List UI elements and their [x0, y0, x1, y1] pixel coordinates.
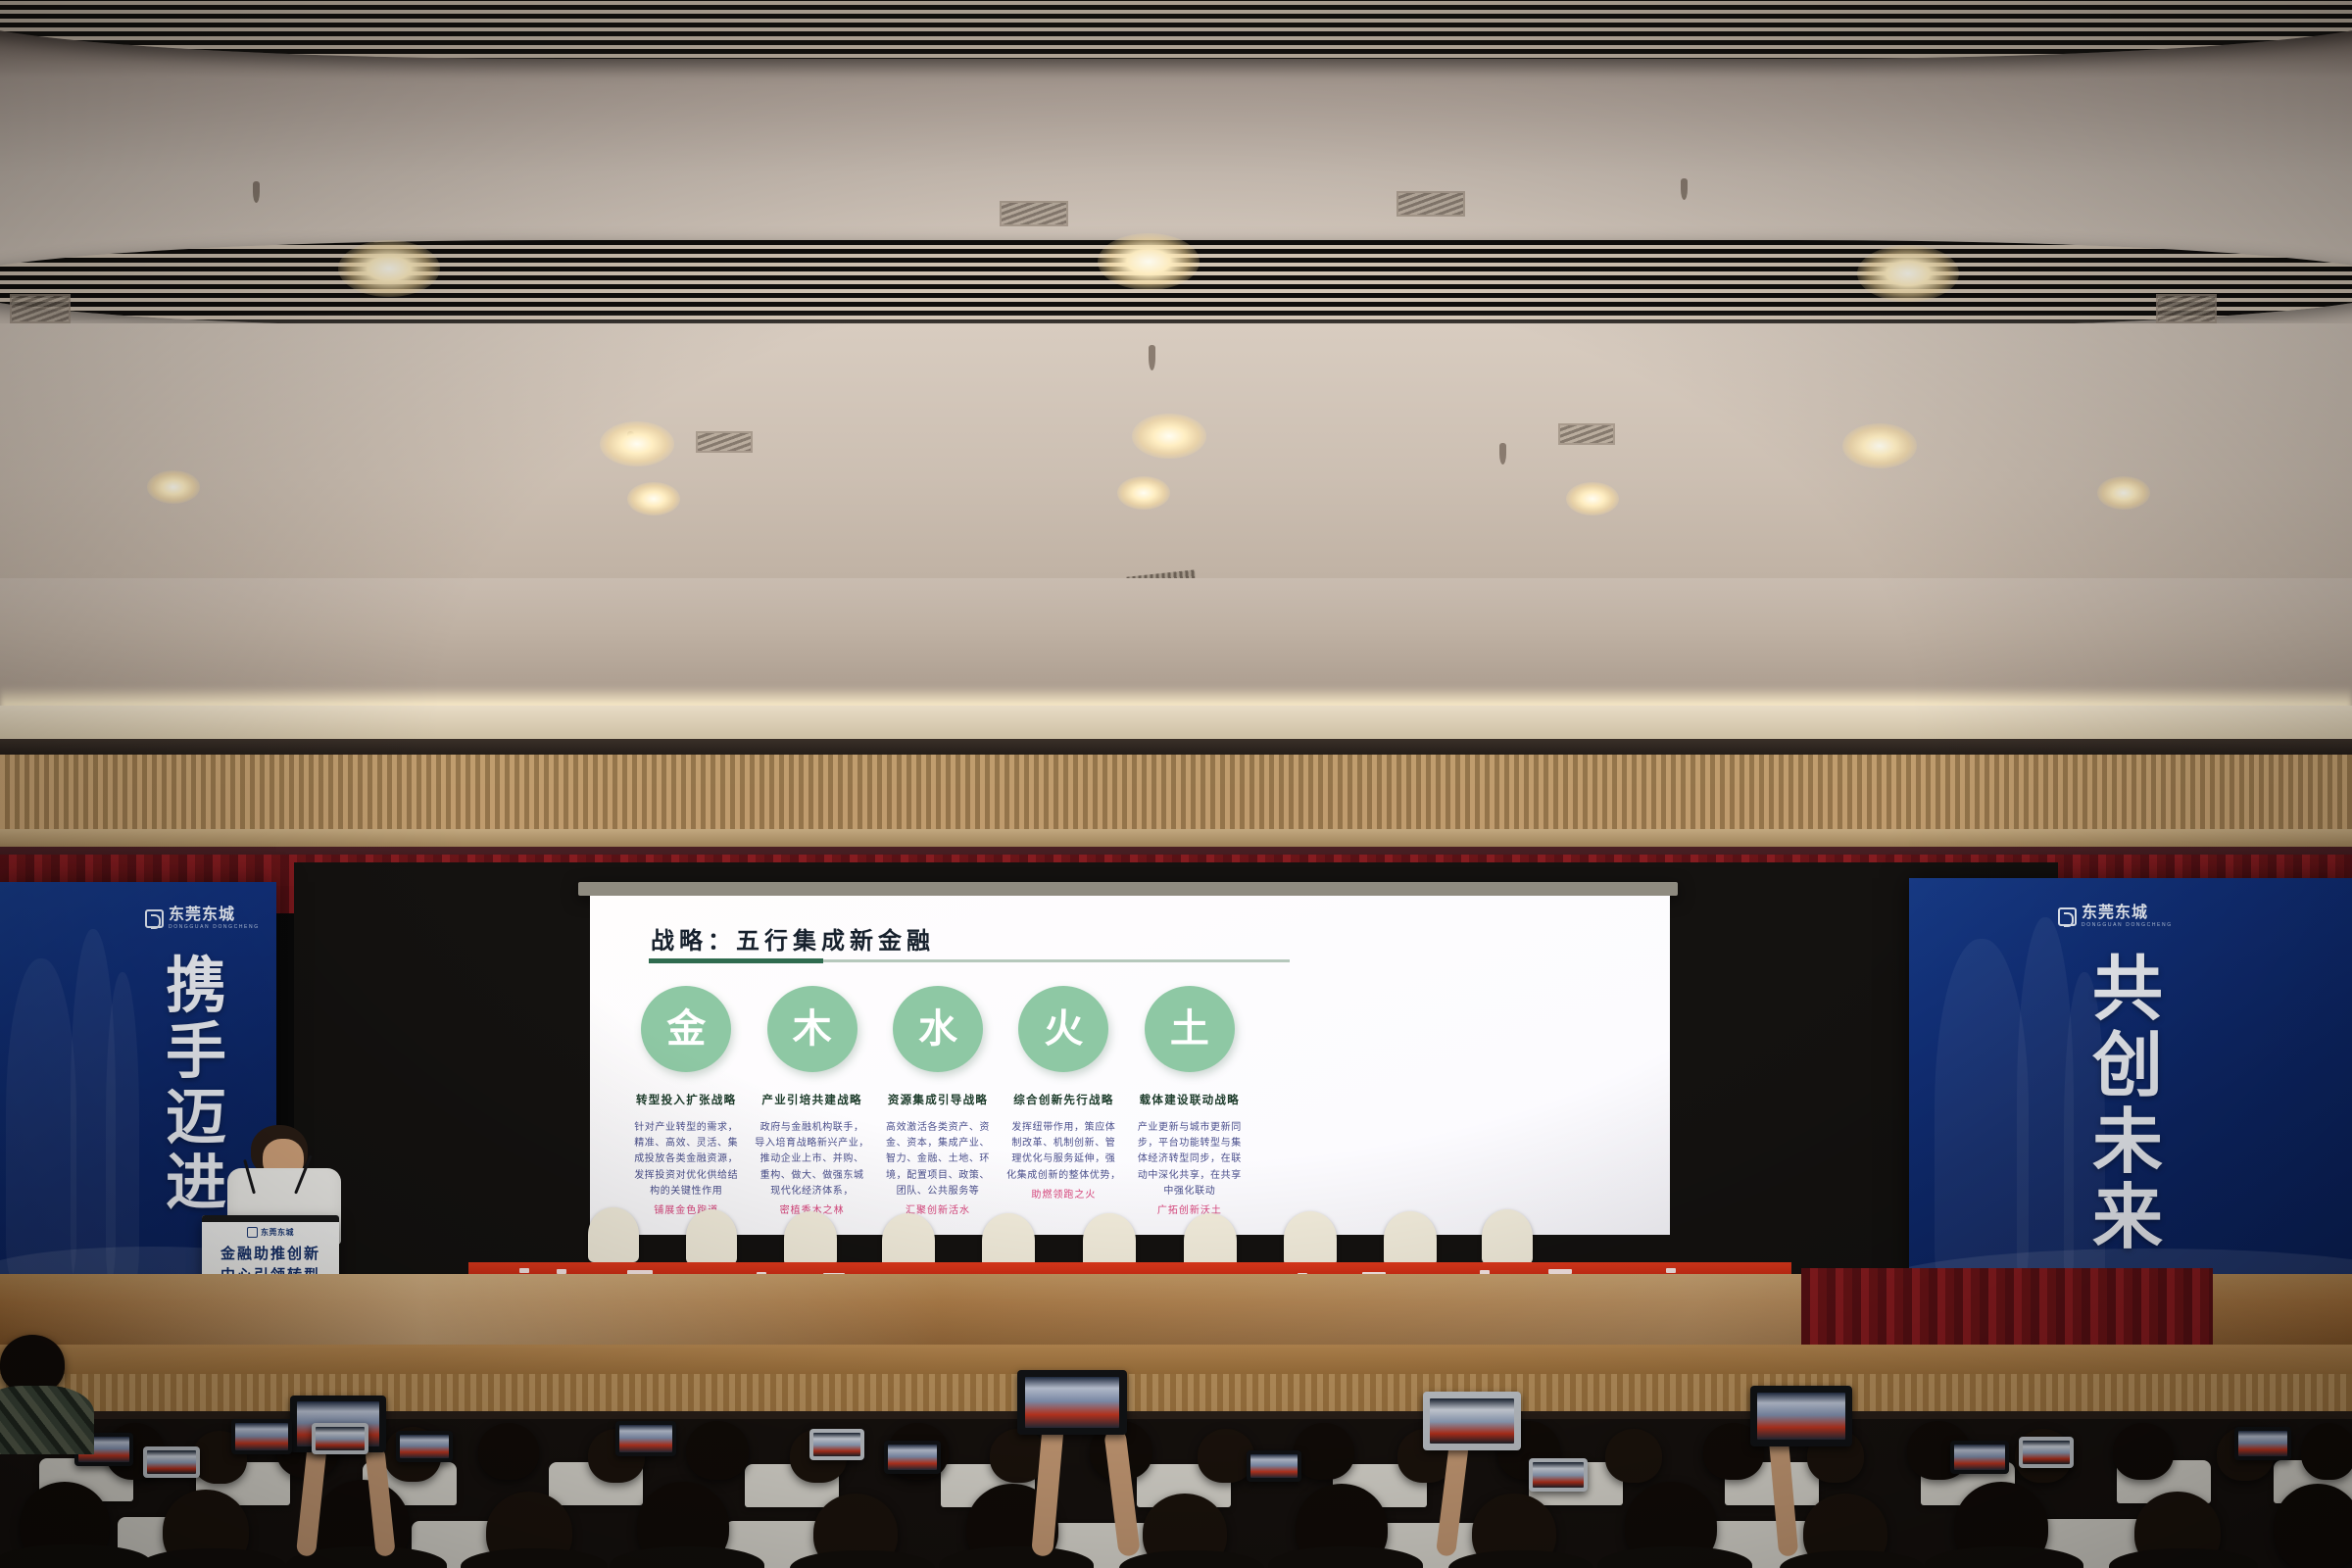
air-vent	[2156, 294, 2217, 323]
wall-trim-band	[0, 706, 2352, 739]
air-vent	[696, 431, 753, 453]
ceiling-downlight	[1842, 423, 1917, 468]
podium-logo-cn: 东莞东城	[261, 1227, 294, 1238]
audience-phone	[1017, 1370, 1127, 1435]
element-glyph: 金	[666, 1009, 706, 1049]
stage-chair	[882, 1213, 935, 1268]
ceiling-downlight	[147, 470, 200, 504]
podium-slogan-line1: 金融助推创新	[202, 1245, 339, 1266]
brand-logo-icon	[2058, 907, 2077, 926]
audience-phone	[1750, 1386, 1852, 1446]
banner-left-logo-en: DONGGUAN DONGCHENG	[169, 925, 260, 930]
stage-chair	[686, 1209, 737, 1264]
element-glyph: 土	[1170, 1009, 1209, 1049]
ceiling-downlight	[600, 421, 674, 466]
wall-shadow-band	[0, 739, 2352, 755]
banner-right-logo: 东莞东城 DONGGUAN DONGCHENG	[2058, 906, 2173, 928]
banner-left-logo: 东莞东城 DONGGUAN DONGCHENG	[145, 907, 260, 930]
audience-phone	[312, 1423, 368, 1454]
sprinkler-head	[1149, 345, 1155, 370]
banner-right-logo-en: DONGGUAN DONGCHENG	[2082, 923, 2173, 928]
stage-chair	[1482, 1209, 1533, 1264]
element-circle-metal: 金	[641, 986, 731, 1072]
brand-logo-icon	[145, 909, 164, 928]
podium-top-edge	[202, 1215, 339, 1222]
column-body: 政府与金融机构联手，导入培育战略新兴产业，推动企业上市、并购、重构、做大、做强东…	[755, 1120, 869, 1200]
column-heading: 转型投入扩张战略	[636, 1092, 736, 1107]
element-glyph: 水	[918, 1009, 957, 1049]
column-heading: 资源集成引导战略	[888, 1092, 988, 1107]
ceiling-downlight	[1117, 476, 1170, 510]
slide-rule-light	[823, 959, 1290, 962]
air-vent	[1558, 423, 1615, 445]
slide-column: 火 综合创新先行战略 发挥纽带作用，策应体制改革、机制创新、管理优化与服务延伸，…	[1001, 986, 1126, 1216]
ceiling-downlight	[627, 482, 680, 515]
stage-chair	[784, 1211, 837, 1266]
column-body: 高效激活各类资产、资金、资本，集成产业、智力、金融、土地、环境，配置项目、政策、…	[886, 1120, 990, 1200]
column-body: 针对产业转型的需求，精准、高效、灵活、集成投放各类金融资源，发挥投资对优化供给结…	[634, 1120, 738, 1200]
slide-canvas: 战略：五行集成新金融 金 转型投入扩张战略 针对产业转型的需求，精准、高效、灵活…	[590, 896, 1670, 1235]
sprinkler-head	[1681, 178, 1688, 200]
stage-chair	[1284, 1211, 1337, 1266]
banner-right-verse: 共创未来	[2076, 953, 2180, 1257]
element-glyph: 木	[793, 1009, 832, 1049]
column-heading: 综合创新先行战略	[1013, 1092, 1113, 1107]
air-vent	[1396, 191, 1465, 217]
air-vent	[10, 294, 71, 323]
projection-screen: 战略：五行集成新金融 金 转型投入扩张战略 针对产业转型的需求，精准、高效、灵活…	[590, 896, 1670, 1235]
screen-mount-bar	[578, 882, 1678, 896]
stage-chair	[1184, 1213, 1237, 1268]
slide-column: 水 资源集成引导战略 高效激活各类资产、资金、资本，集成产业、智力、金融、土地、…	[875, 986, 1001, 1216]
sprinkler-head	[253, 181, 260, 203]
stage-chair	[1083, 1213, 1136, 1268]
brand-logo-icon	[247, 1227, 258, 1238]
column-body: 发挥纽带作用，策应体制改革、机制创新、管理优化与服务延伸，强化集成创新的整体优势…	[1006, 1120, 1121, 1184]
banner-left-logo-cn: 东莞东城	[169, 907, 260, 923]
column-heading: 载体建设联动战略	[1140, 1092, 1240, 1107]
stage-chair	[1384, 1211, 1437, 1266]
column-body: 产业更新与城市更新同步，平台功能转型与集体经济转型同步，在联动中深化共享，在共享…	[1138, 1120, 1242, 1200]
audience-phone	[884, 1441, 941, 1474]
slide-columns: 金 转型投入扩张战略 针对产业转型的需求，精准、高效、灵活、集成投放各类金融资源…	[623, 986, 1252, 1216]
audience-phone	[809, 1429, 864, 1460]
slide-column: 金 转型投入扩张战略 针对产业转型的需求，精准、高效、灵活、集成投放各类金融资源…	[623, 986, 749, 1216]
ceiling-downlight	[1857, 245, 1959, 302]
element-circle-wood: 木	[767, 986, 857, 1072]
banner-right-logo-cn: 东莞东城	[2082, 906, 2173, 921]
ceiling-downlight	[2097, 476, 2150, 510]
ceiling-downlight	[1098, 233, 1200, 290]
column-emphasis: 助燃领跑之火	[1031, 1186, 1096, 1200]
element-circle-fire: 火	[1018, 986, 1108, 1072]
slide-title: 战略：五行集成新金融	[651, 921, 935, 955]
audience-phone	[143, 1446, 200, 1478]
ceiling-downlight	[1566, 482, 1619, 515]
column-heading: 产业引培共建战略	[761, 1092, 861, 1107]
slide-column: 木 产业引培共建战略 政府与金融机构联手，导入培育战略新兴产业，推动企业上市、并…	[749, 986, 874, 1216]
audience-phone	[1247, 1450, 1301, 1482]
audience-phone	[2234, 1427, 2291, 1460]
audience-phone	[231, 1419, 292, 1454]
audience-phone	[1950, 1441, 2009, 1474]
ceiling-louvre-band-top	[0, 0, 2352, 59]
audience-phone	[1529, 1458, 1588, 1492]
ceiling-downlight	[338, 240, 440, 297]
slide-column: 土 载体建设联动战略 产业更新与城市更新同步，平台功能转型与集体经济转型同步，在…	[1127, 986, 1252, 1216]
slat-wall-upper	[0, 755, 2352, 829]
audience-phone	[396, 1431, 453, 1462]
element-glyph: 火	[1044, 1009, 1083, 1049]
stage-chair	[588, 1207, 639, 1262]
element-circle-water: 水	[893, 986, 983, 1072]
air-vent	[1000, 201, 1068, 226]
sprinkler-head	[1499, 443, 1506, 465]
slide-rule-accent	[649, 958, 823, 963]
audience-phone	[615, 1421, 676, 1456]
podium-logo: 东莞东城	[247, 1227, 294, 1238]
stage-chair	[982, 1213, 1035, 1268]
conference-hall-photo: 东莞东城 DONGGUAN DONGCHENG 携手迈进 东莞东城 DONGGU…	[0, 0, 2352, 1568]
element-circle-earth: 土	[1145, 986, 1235, 1072]
audience-phone	[1423, 1392, 1521, 1450]
audience-phone	[2019, 1437, 2074, 1468]
ceiling-downlight	[1132, 414, 1206, 459]
